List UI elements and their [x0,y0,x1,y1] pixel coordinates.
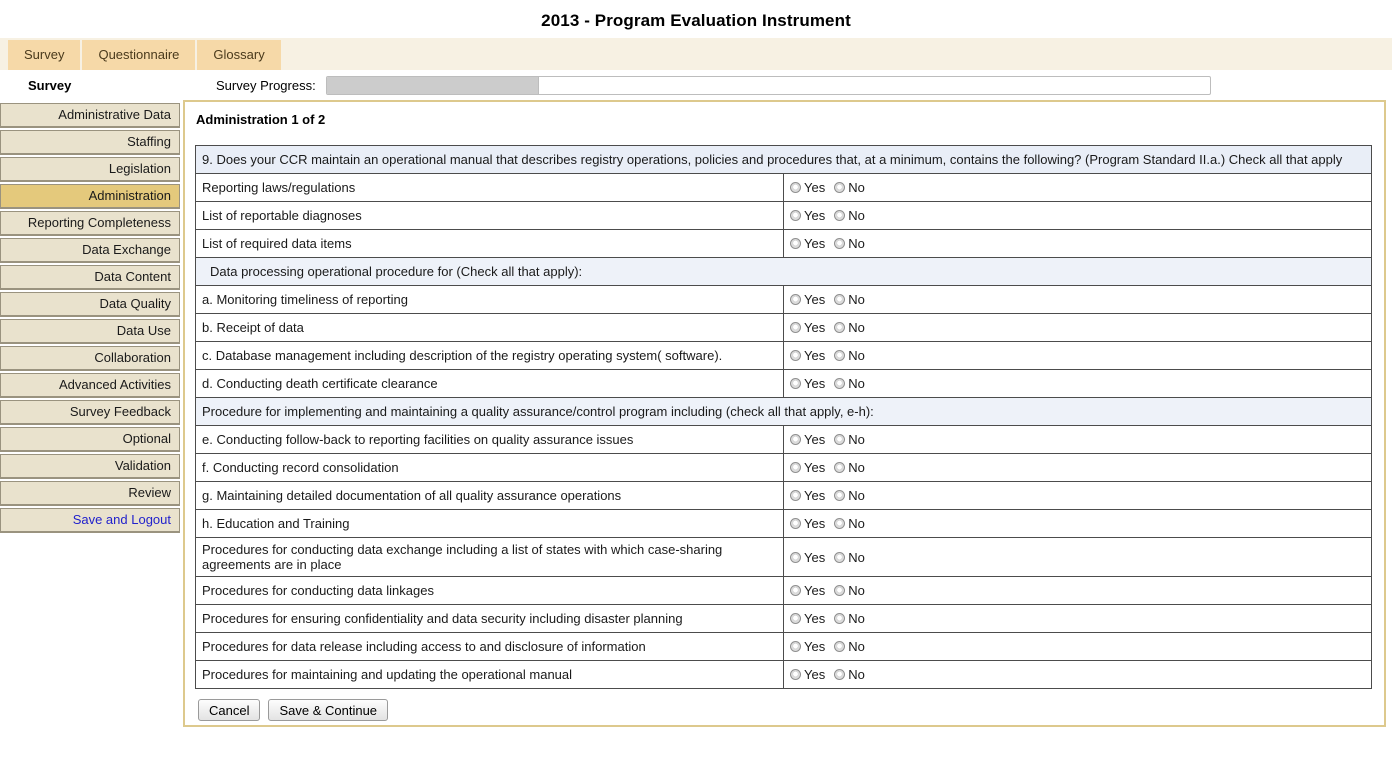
question-header-text: 9. Does your CCR maintain an operational… [196,146,1372,174]
question-item-label: Procedures for data release including ac… [196,633,784,661]
answer-cell: YesNo [784,370,1372,398]
question-item-label: List of required data items [196,230,784,258]
question-item-label: Procedures for conducting data exchange … [196,538,784,577]
sidebar-item-advanced-activities[interactable]: Advanced Activities [0,373,180,398]
answer-cell: YesNo [784,286,1372,314]
table-row: f. Conducting record consolidationYesNo [196,454,1372,482]
question-item-label: Reporting laws/regulations [196,174,784,202]
radio-no[interactable] [834,462,845,473]
table-row: g. Maintaining detailed documentation of… [196,482,1372,510]
page-title: 2013 - Program Evaluation Instrument [0,0,1392,38]
sidebar-item-legislation[interactable]: Legislation [0,157,180,182]
radio-no-label: No [848,667,865,682]
sidebar-item-data-use[interactable]: Data Use [0,319,180,344]
radio-no[interactable] [834,238,845,249]
radio-no[interactable] [834,434,845,445]
radio-yes[interactable] [790,518,801,529]
question-item-label: e. Conducting follow-back to reporting f… [196,426,784,454]
radio-no-label: No [848,583,865,598]
radio-no-label: No [848,376,865,391]
radio-yes[interactable] [790,669,801,680]
answer-cell: YesNo [784,314,1372,342]
answer-cell: YesNo [784,426,1372,454]
question-header-row: 9. Does your CCR maintain an operational… [196,146,1372,174]
question-table: 9. Does your CCR maintain an operational… [195,145,1372,689]
section-header-label: Procedure for implementing and maintaini… [196,398,1372,426]
answer-cell: YesNo [784,538,1372,577]
answer-cell: YesNo [784,174,1372,202]
radio-no[interactable] [834,294,845,305]
answer-cell: YesNo [784,633,1372,661]
sidebar-item-collaboration[interactable]: Collaboration [0,346,180,371]
sidebar-item-staffing[interactable]: Staffing [0,130,180,155]
answer-cell: YesNo [784,454,1372,482]
survey-progress-bar [326,76,1211,95]
content-panel: Administration 1 of 2 9. Does your CCR m… [183,100,1386,727]
table-row: Procedures for conducting data linkagesY… [196,577,1372,605]
survey-section-label: Survey [0,78,200,93]
radio-no[interactable] [834,322,845,333]
question-item-label: f. Conducting record consolidation [196,454,784,482]
radio-yes[interactable] [790,490,801,501]
section-header-row: Procedure for implementing and maintaini… [196,398,1372,426]
page-section-heading: Administration 1 of 2 [196,112,1372,127]
question-item-label: List of reportable diagnoses [196,202,784,230]
radio-no-label: No [848,292,865,307]
sub-header: Survey Survey Progress: [0,70,1392,100]
table-row: Procedures for data release including ac… [196,633,1372,661]
radio-yes-label: Yes [804,320,825,335]
sidebar-item-validation[interactable]: Validation [0,454,180,479]
answer-cell: YesNo [784,661,1372,689]
button-row: CancelSave & Continue [195,699,1372,721]
answer-cell: YesNo [784,342,1372,370]
sidebar-item-data-exchange[interactable]: Data Exchange [0,238,180,263]
sidebar-item-review[interactable]: Review [0,481,180,506]
radio-no-label: No [848,236,865,251]
cancel-button[interactable]: Cancel [198,699,260,721]
section-header-row: Data processing operational procedure fo… [196,258,1372,286]
table-row: List of reportable diagnosesYesNo [196,202,1372,230]
radio-no-label: No [848,180,865,195]
radio-yes-label: Yes [804,292,825,307]
radio-yes[interactable] [790,462,801,473]
table-row: a. Monitoring timeliness of reportingYes… [196,286,1372,314]
radio-yes[interactable] [790,238,801,249]
body-wrapper: Administrative DataStaffingLegislationAd… [0,100,1392,731]
radio-no-label: No [848,348,865,363]
table-row: Reporting laws/regulationsYesNo [196,174,1372,202]
radio-yes-label: Yes [804,550,825,565]
answer-cell: YesNo [784,202,1372,230]
radio-yes[interactable] [790,350,801,361]
radio-yes[interactable] [790,641,801,652]
table-row: d. Conducting death certificate clearanc… [196,370,1372,398]
answer-cell: YesNo [784,605,1372,633]
radio-yes[interactable] [790,585,801,596]
radio-no[interactable] [834,490,845,501]
radio-no[interactable] [834,518,845,529]
radio-yes-label: Yes [804,348,825,363]
radio-no[interactable] [834,210,845,221]
table-row: e. Conducting follow-back to reporting f… [196,426,1372,454]
sidebar-item-save-and-logout[interactable]: Save and Logout [0,508,180,533]
radio-yes[interactable] [790,182,801,193]
table-row: h. Education and TrainingYesNo [196,510,1372,538]
question-item-label: Procedures for conducting data linkages [196,577,784,605]
radio-no-label: No [848,516,865,531]
radio-yes[interactable] [790,294,801,305]
radio-no-label: No [848,208,865,223]
radio-yes-label: Yes [804,516,825,531]
tab-glossary[interactable]: Glossary [197,40,280,70]
radio-yes[interactable] [790,210,801,221]
radio-yes-label: Yes [804,432,825,447]
radio-yes-label: Yes [804,208,825,223]
radio-no[interactable] [834,182,845,193]
sidebar-item-administration[interactable]: Administration [0,184,180,209]
tab-bar: SurveyQuestionnaireGlossary [0,38,1392,70]
table-row: Procedures for maintaining and updating … [196,661,1372,689]
radio-no[interactable] [834,350,845,361]
question-item-label: Procedures for maintaining and updating … [196,661,784,689]
radio-yes-label: Yes [804,460,825,475]
tab-questionnaire[interactable]: Questionnaire [82,40,195,70]
question-item-label: c. Database management including descrip… [196,342,784,370]
radio-no[interactable] [834,585,845,596]
radio-yes-label: Yes [804,376,825,391]
radio-no-label: No [848,611,865,626]
radio-no-label: No [848,550,865,565]
survey-progress-label: Survey Progress: [216,78,316,93]
sidebar-item-optional[interactable]: Optional [0,427,180,452]
radio-no-label: No [848,432,865,447]
answer-cell: YesNo [784,482,1372,510]
radio-yes-label: Yes [804,236,825,251]
radio-yes[interactable] [790,434,801,445]
table-row: b. Receipt of dataYesNo [196,314,1372,342]
answer-cell: YesNo [784,577,1372,605]
radio-yes-label: Yes [804,488,825,503]
table-row: Procedures for ensuring confidentiality … [196,605,1372,633]
answer-cell: YesNo [784,510,1372,538]
radio-no-label: No [848,639,865,654]
radio-yes[interactable] [790,378,801,389]
radio-no[interactable] [834,641,845,652]
answer-cell: YesNo [784,230,1372,258]
radio-yes-label: Yes [804,639,825,654]
save-continue-button[interactable]: Save & Continue [268,699,388,721]
radio-yes[interactable] [790,613,801,624]
radio-no[interactable] [834,552,845,563]
table-row: c. Database management including descrip… [196,342,1372,370]
radio-no-label: No [848,320,865,335]
question-item-label: Procedures for ensuring confidentiality … [196,605,784,633]
table-row: Procedures for conducting data exchange … [196,538,1372,577]
question-item-label: h. Education and Training [196,510,784,538]
sidebar-item-data-quality[interactable]: Data Quality [0,292,180,317]
question-item-label: a. Monitoring timeliness of reporting [196,286,784,314]
sidebar-item-data-content[interactable]: Data Content [0,265,180,290]
radio-no-label: No [848,488,865,503]
radio-no-label: No [848,460,865,475]
table-row: List of required data itemsYesNo [196,230,1372,258]
question-item-label: d. Conducting death certificate clearanc… [196,370,784,398]
radio-yes-label: Yes [804,611,825,626]
sidebar-item-reporting-completeness[interactable]: Reporting Completeness [0,211,180,236]
tab-survey[interactable]: Survey [8,40,80,70]
radio-yes[interactable] [790,322,801,333]
section-header-label: Data processing operational procedure fo… [196,258,1372,286]
sidebar-item-administrative-data[interactable]: Administrative Data [0,103,180,128]
radio-yes-label: Yes [804,180,825,195]
question-item-label: b. Receipt of data [196,314,784,342]
radio-no[interactable] [834,613,845,624]
radio-no[interactable] [834,669,845,680]
radio-yes[interactable] [790,552,801,563]
survey-progress-fill [327,77,539,94]
radio-no[interactable] [834,378,845,389]
sidebar-item-survey-feedback[interactable]: Survey Feedback [0,400,180,425]
radio-yes-label: Yes [804,583,825,598]
sidebar-nav: Administrative DataStaffingLegislationAd… [0,100,180,535]
question-item-label: g. Maintaining detailed documentation of… [196,482,784,510]
radio-yes-label: Yes [804,667,825,682]
